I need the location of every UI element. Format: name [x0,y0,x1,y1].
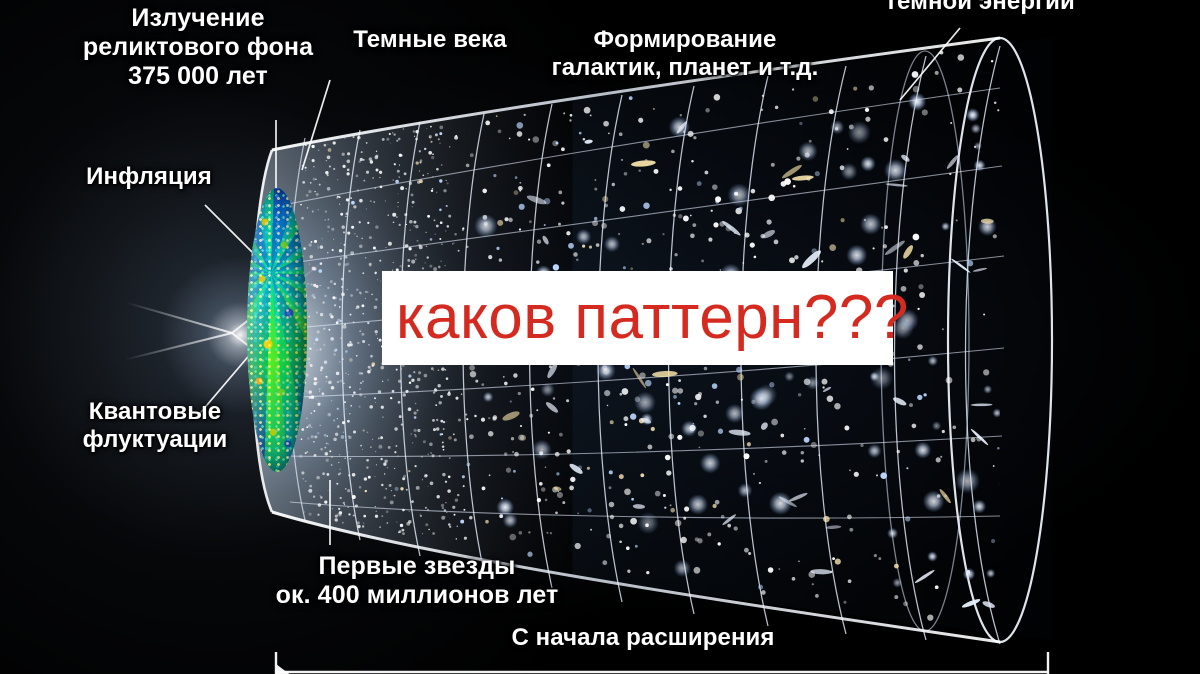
label-dark-ages: Темные века [320,26,540,54]
label-inflation: Инфляция [44,163,254,191]
label-dark-energy: темной энергии [820,0,1140,16]
label-cmb: Излучение реликтового фона 375 000 лет [48,4,348,91]
label-formation: Формирование галактик, планет и т.д. [530,26,840,82]
slide-canvas: Излучение реликтового фона 375 000 лет Т… [0,0,1200,674]
label-quantum: Квантовые флуктуации [30,398,280,454]
pattern-question-box: каков паттерн??? [382,271,893,365]
time-axis-bracket [276,652,1048,674]
pattern-question-text: каков паттерн??? [382,287,909,349]
label-first-stars: Первые звезды ок. 400 миллионов лет [232,552,602,610]
label-since-expansion: С начала расширения [443,624,843,652]
